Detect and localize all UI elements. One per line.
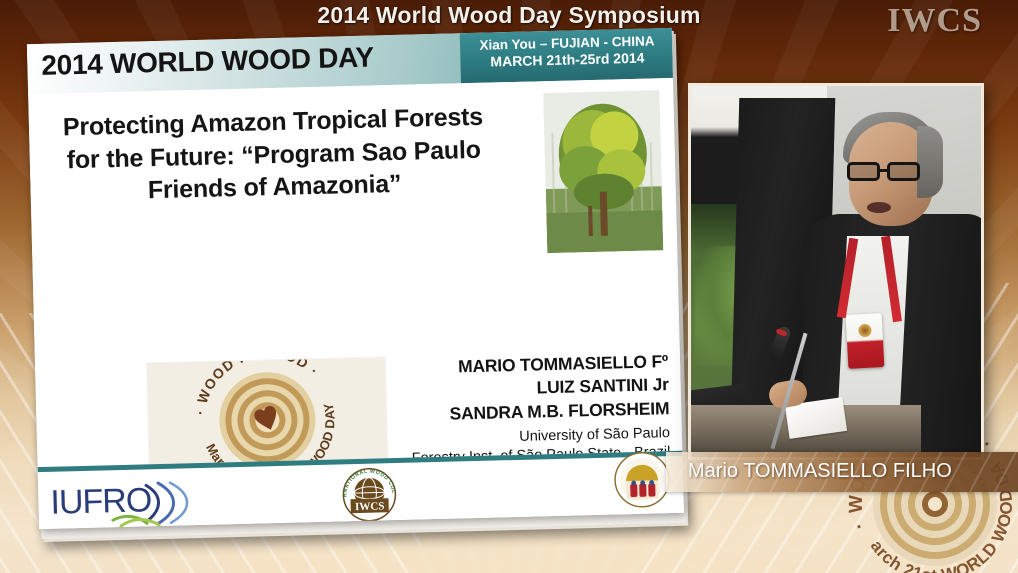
slide-content: 2014 WORLD WOOD DAY Xian You – FUJIAN - … xyxy=(27,28,684,529)
speaker-badge xyxy=(846,313,885,369)
speaker-name-text: Mario TOMMASIELLO FILHO xyxy=(688,460,952,483)
iwcs-logo-label: IWCS xyxy=(355,500,385,513)
slide-panel[interactable]: 2014 WORLD WOOD DAY Xian You – FUJIAN - … xyxy=(27,28,684,536)
iwcs-brand-mark: IWCS xyxy=(887,2,982,40)
speaker-glasses xyxy=(843,162,935,182)
slide-event-title: 2014 WORLD WOOD DAY xyxy=(41,41,374,81)
speaker-mouth xyxy=(867,202,891,213)
slide-body: Protecting Amazon Tropical Forests for t… xyxy=(28,78,684,529)
glasses-bridge xyxy=(880,169,888,172)
slide-main-title: Protecting Amazon Tropical Forests for t… xyxy=(57,101,491,209)
iwcs-logo: IWCS INTERNATIONAL WOOD CULTURE xyxy=(338,465,401,525)
slide-location-text: Xian You – FUJIAN - CHINA MARCH 21th-25r… xyxy=(468,33,667,71)
video-scene: - CHINA rd 2014 xyxy=(691,86,981,457)
symposium-title: 2014 World Wood Day Symposium xyxy=(0,2,1018,29)
badge-emblem xyxy=(858,324,872,338)
iufro-logo-label: IUFRO xyxy=(50,481,152,522)
speaker-name-caption: Mario TOMMASIELLO FILHO xyxy=(666,452,1018,492)
glasses-lens-left xyxy=(847,162,880,181)
speaker-video-panel[interactable]: - CHINA rd 2014 xyxy=(688,83,984,460)
usp-logo xyxy=(612,450,671,509)
glasses-lens-right xyxy=(887,162,920,181)
flowering-tree-photo xyxy=(543,90,663,253)
iufro-logo: IUFRO xyxy=(50,472,261,529)
presentation-stage: · WOOD IS GOOD · March 21st WORLD WOOD D… xyxy=(0,0,1018,573)
